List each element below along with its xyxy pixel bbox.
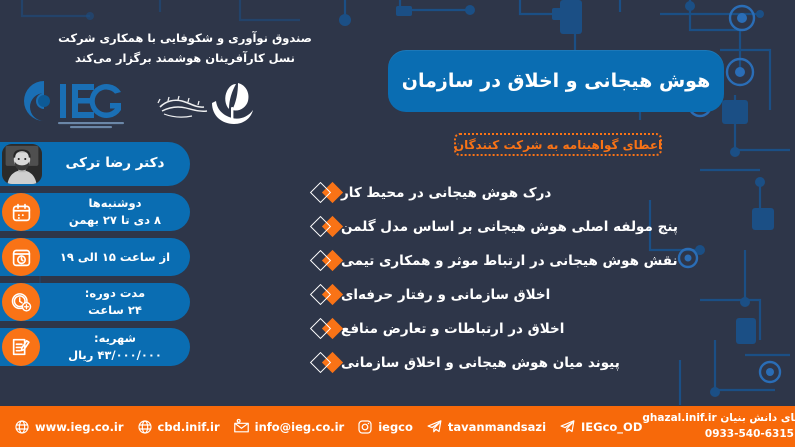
avatar [0, 142, 44, 186]
clock-window-icon [2, 238, 40, 276]
topic-label: نقش هوش هیجانی در ارتباط موثر و همکاری ت… [341, 253, 678, 269]
contact-telegram-iegco-od[interactable]: IEGco_OD [559, 418, 642, 435]
footer-bar: www.ieg.co.ir cbd.inif.ir [0, 406, 795, 447]
contact-website-primary[interactable]: www.ieg.co.ir [14, 419, 124, 435]
poster-root: صندوق نوآوری و شکوفایی با همکاری شرکت نس… [0, 0, 795, 447]
speaker-name-text: دکتر رضا ترکی [66, 155, 165, 171]
list-item: نقش هوش هیجانی در ارتباط موثر و همکاری ت… [300, 244, 725, 278]
contact-label: www.ieg.co.ir [35, 420, 124, 434]
ieg-logo [14, 75, 134, 131]
topic-label: درک هوش هیجانی در محیط کار [341, 185, 551, 201]
diamond-bullet-icon [307, 316, 341, 342]
calendar-icon [2, 193, 40, 231]
contact-label: iegco [378, 420, 413, 434]
diamond-bullet-icon [307, 248, 341, 274]
duration-text: مدت دوره: ۲۴ ساعت [46, 285, 182, 318]
info-card-time: از ساعت ۱۵ الی ۱۹ [0, 238, 190, 276]
duration-line-1: مدت دوره: [85, 286, 145, 300]
date-line-1: دوشنبه‌ها [88, 196, 141, 210]
fee-line-2: ۴۳/۰۰۰/۰۰۰ ریال [48, 347, 182, 364]
list-item: پیوند میان هوش هیجانی و اخلاق سازمانی [300, 346, 725, 380]
fee-text: شهریه: ۴۳/۰۰۰/۰۰۰ ریال [46, 330, 182, 363]
info-card-duration: مدت دوره: ۲۴ ساعت [0, 283, 190, 321]
list-item: اخلاق سازمانی و رفتار حرفه‌ای [300, 278, 725, 312]
contact-label: cbd.inif.ir [158, 420, 220, 434]
footer-contacts: www.ieg.co.ir cbd.inif.ir [0, 418, 642, 435]
diamond-bullet-icon [307, 350, 341, 376]
duration-line-2: ۲۴ ساعت [48, 302, 182, 319]
registration-row-knowledge-based: ثبت‌نام شرکت‌های دانش بنیان ghazal.inif.… [642, 411, 795, 427]
topic-label: پیوند میان هوش هیجانی و اخلاق سازمانی [341, 355, 620, 371]
globe-icon [14, 419, 30, 435]
logo-group [8, 72, 268, 134]
diamond-bullet-icon [307, 180, 341, 206]
date-line-2: ۸ دی تا ۲۷ بهمن [48, 212, 182, 229]
instagram-icon [357, 419, 373, 435]
contact-email[interactable]: info@ieg.co.ir [233, 418, 345, 435]
info-card-fee: شهریه: ۴۳/۰۰۰/۰۰۰ ریال [0, 328, 190, 366]
organiser-line-2: نسل کارآفرینان هوشمند برگزار می‌کند [30, 48, 340, 68]
footer-registration: ثبت‌نام شرکت‌های دانش بنیان ghazal.inif.… [642, 411, 795, 443]
speaker-name: دکتر رضا ترکی [46, 154, 182, 174]
contact-telegram-tavanmandsazi[interactable]: tavanmandsazi [426, 418, 546, 435]
registration-value-2[interactable]: 0933-540-6315 [705, 427, 794, 443]
telegram-icon [559, 418, 576, 435]
certificate-label: اعطای گواهینامه به شرکت کنندگان [454, 138, 662, 152]
contact-label: IEGco_OD [581, 420, 642, 434]
registration-label-1: ثبت‌نام شرکت‌های دانش بنیان [720, 412, 795, 424]
email-icon [233, 418, 250, 435]
contact-website-secondary[interactable]: cbd.inif.ir [137, 419, 220, 435]
globe-icon [137, 419, 153, 435]
course-title-box: هوش هیجانی و اخلاق در سازمان [388, 50, 724, 112]
contact-label: tavanmandsazi [448, 420, 546, 434]
info-card-date: دوشنبه‌ها ۸ دی تا ۲۷ بهمن [0, 193, 190, 231]
info-panel: دکتر رضا ترکی دوشنبه‌ها ۸ دی تا ۲۷ بهمن [0, 142, 190, 366]
registration-value-1[interactable]: ghazal.inif.ir [642, 411, 716, 427]
topic-label: اخلاق سازمانی و رفتار حرفه‌ای [341, 287, 550, 303]
topics-list: درک هوش هیجانی در محیط کار پنج مولفه اصل… [300, 176, 725, 380]
list-item: درک هوش هیجانی در محیط کار [300, 176, 725, 210]
diamond-bullet-icon [307, 214, 341, 240]
topic-label: پنج مولفه اصلی هوش هیجانی بر اساس مدل گل… [341, 219, 678, 235]
certificate-badge: اعطای گواهینامه به شرکت کنندگان [454, 133, 662, 156]
organiser-line-1: صندوق نوآوری و شکوفایی با همکاری شرکت [30, 28, 340, 48]
fee-line-1: شهریه: [94, 331, 136, 345]
page-title: هوش هیجانی و اخلاق در سازمان [402, 70, 710, 92]
registration-row-others: ثبت‌نام سایرین 0933-540-6315 [642, 427, 795, 443]
info-card-speaker: دکتر رضا ترکی [0, 142, 190, 186]
telegram-icon [426, 418, 443, 435]
date-text: دوشنبه‌ها ۸ دی تا ۲۷ بهمن [46, 195, 182, 228]
list-item: اخلاق در ارتباطات و تعارض منافع [300, 312, 725, 346]
time-line-1: از ساعت ۱۵ الی ۱۹ [60, 250, 170, 264]
contact-instagram[interactable]: iegco [357, 419, 413, 435]
list-item: پنج مولفه اصلی هوش هیجانی بر اساس مدل گل… [300, 210, 725, 244]
duration-clock-icon [2, 283, 40, 321]
contact-label: info@ieg.co.ir [255, 420, 345, 434]
diamond-bullet-icon [307, 282, 341, 308]
topic-label: اخلاق در ارتباطات و تعارض منافع [341, 321, 564, 337]
organiser-text: صندوق نوآوری و شکوفایی با همکاری شرکت نس… [30, 28, 340, 68]
innovation-fund-logo [152, 77, 262, 129]
time-text: از ساعت ۱۵ الی ۱۹ [46, 249, 182, 266]
invoice-icon [2, 328, 40, 366]
